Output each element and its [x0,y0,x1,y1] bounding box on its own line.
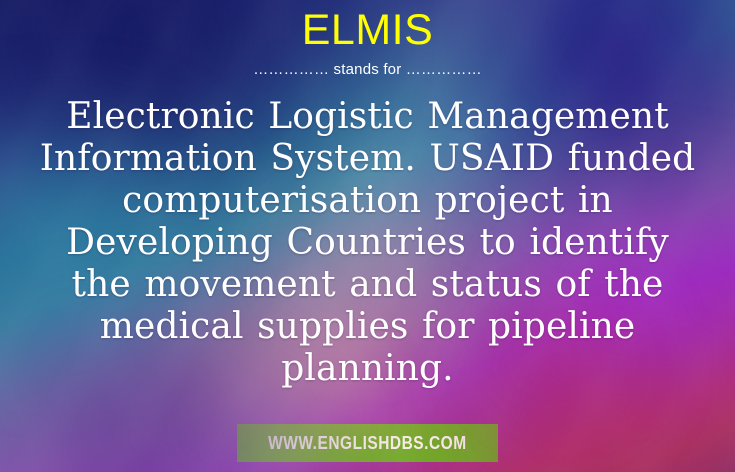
acronym-definition-text: Electronic Logistic Management Informati… [12,96,724,390]
card-content: ELMIS …………… stands for …………… Electronic … [0,0,735,472]
acronym-title: ELMIS [302,9,434,52]
stands-for-subtitle: …………… stands for …………… [253,61,482,78]
acronym-definition-card: ELMIS …………… stands for …………… Electronic … [0,0,735,472]
